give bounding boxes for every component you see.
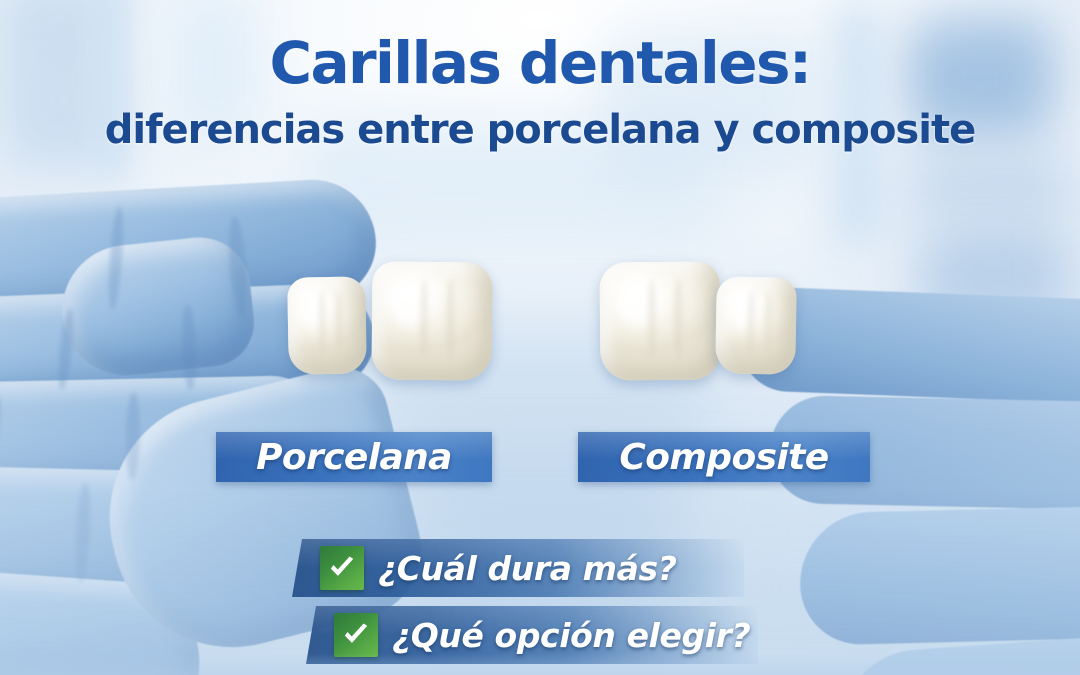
veneer-right-large: [599, 261, 720, 380]
checklist-label-1: ¿Cuál dura más?: [378, 549, 677, 588]
checklist-item-2: ¿Qué opción elegir?: [306, 606, 758, 664]
veneer-ridge: [446, 279, 455, 362]
left-gloved-hand: [0, 176, 470, 675]
checklist-label-2: ¿Qué opción elegir?: [392, 616, 750, 655]
veneer-left-large: [371, 261, 492, 380]
checklist-item-1: ¿Cuál dura más?: [292, 539, 744, 597]
promo-banner: Carillas dentales: diferencias entre por…: [0, 0, 1080, 675]
right-gloved-hand: [610, 176, 1080, 675]
category-label-composite: Composite: [619, 437, 828, 478]
category-badge-porcelana: Porcelana: [216, 432, 492, 482]
veneer-ridge: [747, 290, 754, 358]
veneer-ridge: [674, 278, 683, 361]
veneer-right-small: [715, 276, 797, 374]
page-title: Carillas dentales:: [0, 34, 1080, 93]
veneer-ridge: [765, 291, 772, 359]
check-icon: [320, 546, 364, 590]
category-label-porcelana: Porcelana: [256, 437, 452, 478]
glove-finger: [798, 502, 1080, 645]
category-badge-composite: Composite: [578, 432, 870, 482]
check-icon: [334, 613, 378, 657]
veneer-left-small: [287, 276, 367, 374]
page-subtitle: diferencias entre porcelana y composite: [0, 107, 1080, 153]
headline-block: Carillas dentales: diferencias entre por…: [0, 34, 1080, 153]
veneer-ridge: [336, 290, 343, 358]
